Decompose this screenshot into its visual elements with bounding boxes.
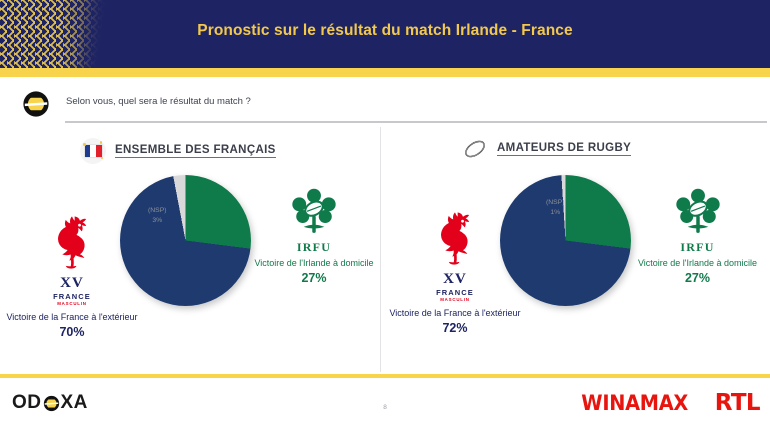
page-title: Pronostic sur le résultat du match Irlan… — [0, 22, 770, 40]
ireland-caption-left: Victoire de l'Irlande à domicile — [248, 257, 380, 269]
xv-logo-line3: MASCULIN — [386, 297, 524, 302]
ireland-result-right: IRFU Victoire de l'Irlande à domicile 27… — [626, 187, 769, 285]
irfu-shamrock-logo — [672, 187, 724, 239]
panel-title-right: AMATEURS DE RUGBY — [497, 142, 631, 156]
irfu-wordmark-left: IRFU — [248, 240, 380, 255]
nsp-value-left: 3% — [148, 216, 167, 226]
odoxa-logo — [22, 90, 50, 118]
ireland-value-right: 27% — [626, 271, 769, 285]
french-flag-icon — [80, 138, 106, 164]
rugby-ball-icon — [462, 138, 488, 160]
irfu-wordmark-right: IRFU — [626, 240, 769, 255]
slide: Pronostic sur le résultat du match Irlan… — [0, 0, 770, 426]
nsp-label-right: (NSP) 1% — [546, 198, 565, 218]
france-value-right: 72% — [386, 321, 524, 335]
france-value-left: 70% — [2, 325, 142, 339]
footer-accent-bar — [0, 374, 770, 378]
xv-logo-line2: FRANCE — [2, 292, 142, 301]
ireland-value-left: 27% — [248, 271, 380, 285]
slide-header: Pronostic sur le résultat du match Irlan… — [0, 0, 770, 68]
header-accent-bar — [0, 68, 770, 77]
panel-header-left: ENSEMBLE DES FRANÇAIS — [80, 138, 276, 164]
france-caption-left: Victoire de la France à l'extérieur — [2, 311, 142, 323]
ireland-caption-right: Victoire de l'Irlande à domicile — [626, 257, 769, 269]
nsp-text-right: (NSP) — [546, 198, 565, 208]
xv-de-france-rooster-logo — [424, 207, 486, 269]
winamax-logo: WINAMAX — [581, 391, 688, 415]
survey-question: Selon vous, quel sera le résultat du mat… — [66, 96, 251, 107]
nsp-text-left: (NSP) — [148, 206, 167, 216]
xv-logo-line3: MASCULIN — [2, 301, 142, 306]
xv-logo-line1: XV — [2, 276, 142, 291]
panel-title-left: ENSEMBLE DES FRANÇAIS — [115, 144, 276, 158]
ireland-result-left: IRFU Victoire de l'Irlande à domicile 27… — [248, 187, 380, 285]
xv-logo-line1: XV — [386, 272, 524, 287]
france-caption-right: Victoire de la France à l'extérieur — [386, 307, 524, 319]
xv-de-france-rooster-logo — [41, 211, 103, 273]
xv-logo-line2: FRANCE — [386, 288, 524, 297]
rtl-logo: RTL — [715, 390, 760, 416]
panel-header-right: AMATEURS DE RUGBY — [462, 138, 631, 160]
panel-ensemble-des-francais: ENSEMBLE DES FRANÇAIS (NSP) 3% — [0, 127, 380, 372]
irfu-shamrock-logo — [288, 187, 340, 239]
nsp-value-right: 1% — [546, 208, 565, 218]
question-divider — [65, 121, 767, 123]
france-result-left: XV FRANCE MASCULIN Victoire de la France… — [2, 211, 142, 339]
france-result-right: XV FRANCE MASCULIN Victoire de la France… — [386, 207, 524, 335]
panel-amateurs-de-rugby: AMATEURS DE RUGBY (NSP) 1% XV — [381, 127, 770, 372]
nsp-label-left: (NSP) 3% — [148, 206, 167, 226]
